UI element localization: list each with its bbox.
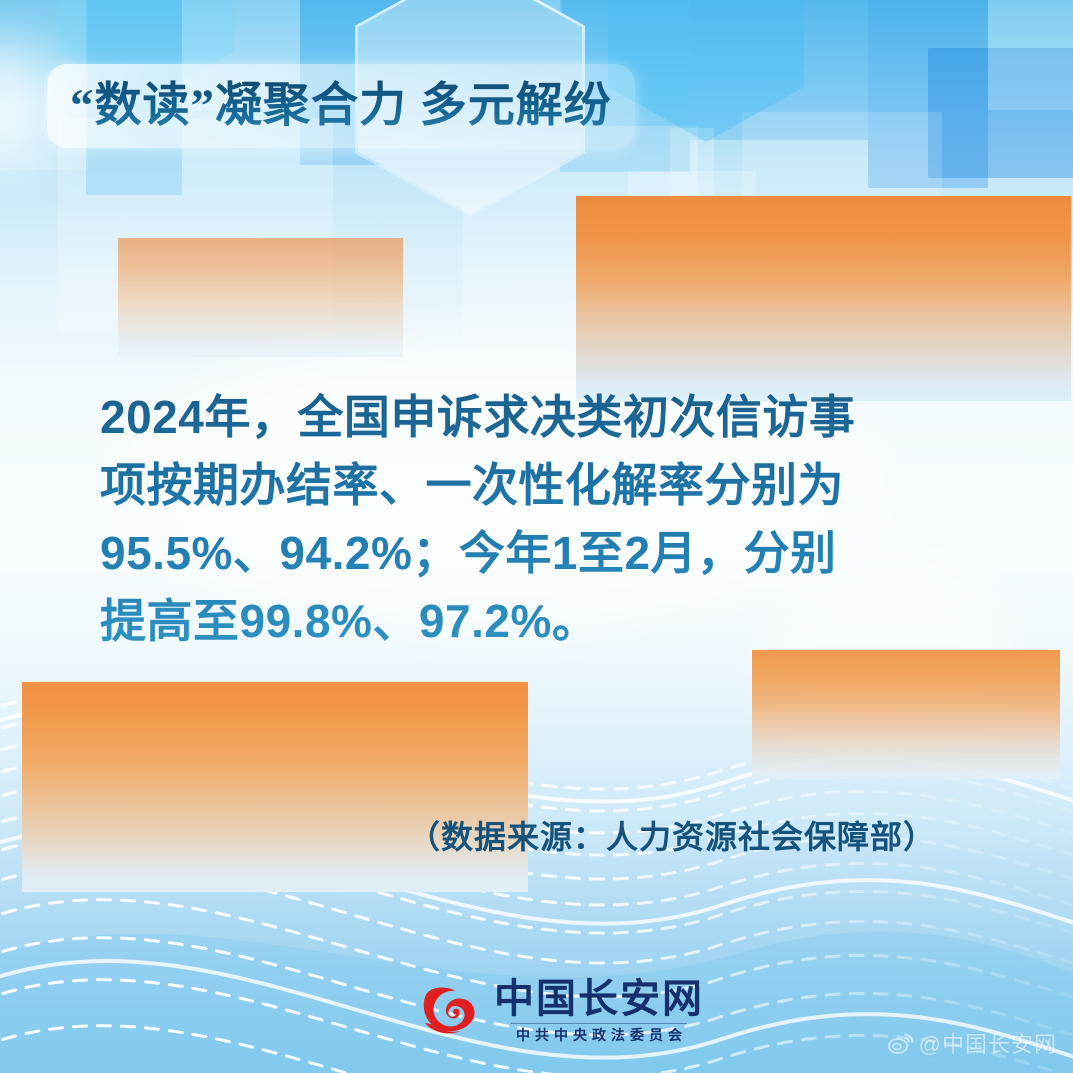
body-paragraph: 2024年，全国申诉求决类初次信访事 项按期办结率、一次性化解率分别为 95.5… — [100, 383, 980, 655]
bg-square — [928, 48, 1073, 178]
logo-wordmark: 中国长安网 中共中央政法委员会 — [494, 978, 704, 1044]
weibo-handle: @中国长安网 — [919, 1027, 1057, 1059]
body-line: 95.5%、94.2%；今年1至2月，分别 — [100, 519, 980, 587]
logo-subtitle: 中共中央政法委员会 — [511, 1023, 687, 1044]
bg-square — [988, 0, 1073, 110]
highlight-number-99-8: 99.8% — [576, 196, 1071, 401]
highlight-number-95-5: 95.5% — [752, 650, 1060, 779]
bg-square — [868, 0, 988, 188]
logo-name: 中国长安网 — [494, 978, 704, 1020]
bg-square — [690, 0, 868, 140]
data-source-note: （数据来源：人力资源社会保障部） — [408, 812, 936, 858]
highlight-number-94-2: 94.2% — [118, 238, 403, 357]
page-title: “数读”凝聚合力 多元解纷 — [70, 72, 630, 140]
infographic-poster: 94.2% 99.8% 97.2% 95.5% “数读”凝聚合力 多元解纷 20… — [0, 0, 1073, 1073]
body-line: 2024年，全国申诉求决类初次信访事 — [100, 383, 980, 451]
body-line: 项按期办结率、一次性化解率分别为 — [100, 451, 980, 519]
bg-hexagon — [608, 0, 804, 142]
body-line: 提高至99.8%、97.2%。 — [100, 587, 980, 655]
highlight-number-97-2: 97.2% — [22, 682, 528, 892]
weibo-icon — [888, 1032, 914, 1054]
red-swirl-icon — [419, 983, 481, 1039]
weibo-watermark: @中国长安网 — [888, 1027, 1057, 1059]
site-logo: 中国长安网 中共中央政法委员会 — [419, 978, 704, 1044]
